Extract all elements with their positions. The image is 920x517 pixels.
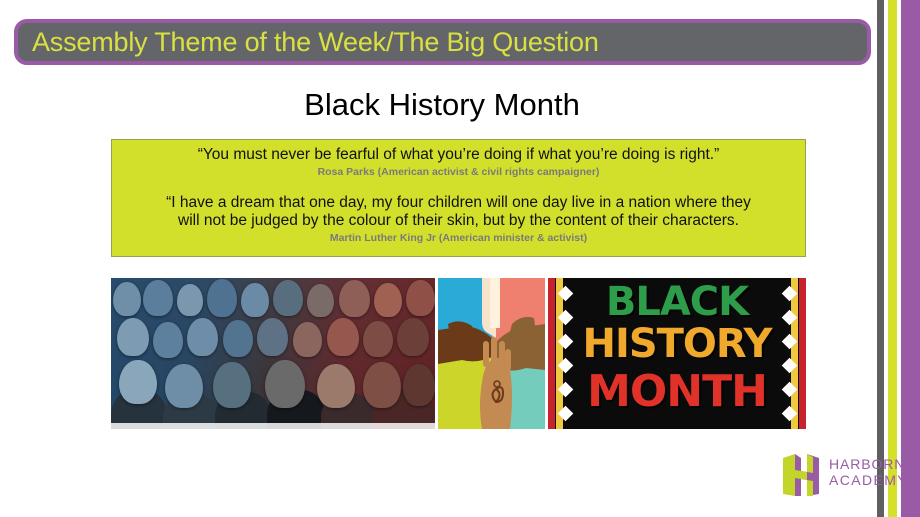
edge-stripe-purple xyxy=(901,0,920,517)
poster-pattern-left xyxy=(548,278,582,429)
slide-canvas: Assembly Theme of the Week/The Big Quest… xyxy=(0,0,920,517)
poster-word-black: BLACK xyxy=(582,282,772,322)
poster-word-month: MONTH xyxy=(582,370,772,414)
page-title: Black History Month xyxy=(0,88,884,122)
quote-text-mlk-line1: “I have a dream that one day, my four ch… xyxy=(122,194,795,213)
collage-artwork xyxy=(111,278,435,429)
edge-stripe-gray xyxy=(877,0,884,517)
hands-svg xyxy=(438,278,545,429)
logo-line-academy: ACADEMY xyxy=(829,472,916,488)
logo-line-harborne: HARBORNE xyxy=(829,456,916,472)
collage-image xyxy=(111,278,435,429)
quote-block-mlk: “I have a dream that one day, my four ch… xyxy=(122,194,795,246)
title-banner-text: Assembly Theme of the Week/The Big Quest… xyxy=(18,29,599,56)
quote-box: “You must never be fearful of what you’r… xyxy=(111,139,806,257)
bhm-poster-artwork: BLACK HISTORY MONTH xyxy=(548,278,806,429)
quote-attribution-rosa-parks: Rosa Parks (American activist & civil ri… xyxy=(122,166,795,180)
poster-pattern-right xyxy=(772,278,806,429)
logo-wordmark: HARBORNE ACADEMY xyxy=(829,456,916,488)
quote-text-mlk-line2: will not be judged by the colour of thei… xyxy=(122,212,795,231)
edge-stripe-green xyxy=(888,0,897,517)
hands-artwork xyxy=(438,278,545,429)
bhm-poster-image: BLACK HISTORY MONTH xyxy=(548,278,806,429)
h-monogram-icon xyxy=(781,452,825,498)
quote-text-rosa-parks: “You must never be fearful of what you’r… xyxy=(122,146,795,165)
quote-block-rosa-parks: “You must never be fearful of what you’r… xyxy=(122,146,795,180)
title-banner: Assembly Theme of the Week/The Big Quest… xyxy=(14,19,871,65)
quote-attribution-mlk: Martin Luther King Jr (American minister… xyxy=(122,232,795,246)
harborne-academy-logo: HARBORNE ACADEMY xyxy=(775,447,885,503)
hands-image xyxy=(438,278,545,429)
poster-word-history: HISTORY xyxy=(582,324,772,364)
